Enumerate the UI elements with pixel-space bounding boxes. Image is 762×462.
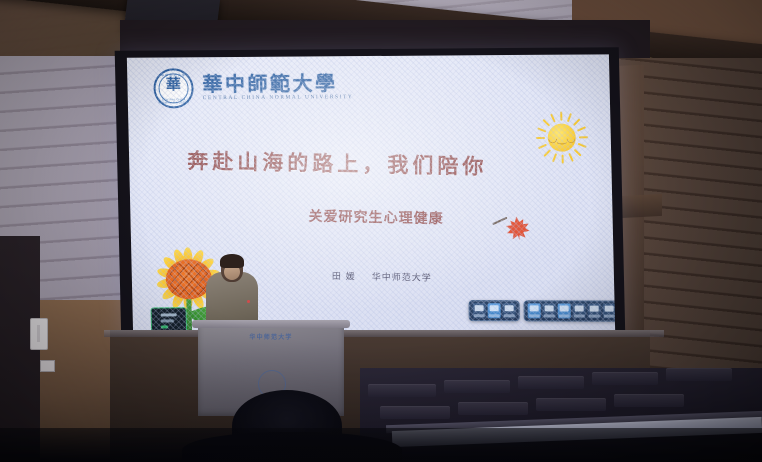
sunflower-seed-mesh	[170, 263, 209, 295]
annotate-button[interactable]	[503, 303, 516, 318]
presenter-name: 田 媛	[332, 271, 356, 283]
audio-toggle-button[interactable]	[488, 303, 501, 318]
slide-title: 奔赴山海的路上，我们陪你	[187, 148, 587, 182]
lecture-hall-scene: 华中师范大学 華 CENTRAL CHINA NORMAL UNIVERSITY…	[0, 0, 762, 462]
seal-glyph: 華	[155, 77, 191, 92]
wall-light-switch-icon[interactable]	[30, 318, 48, 350]
toolbar-group-share[interactable]	[524, 300, 616, 321]
thumb-bar	[161, 313, 177, 316]
sun-face: ◡‿◡	[547, 124, 576, 152]
chevron-right-icon	[590, 306, 599, 312]
presenter-line: 田 媛 华中师范大学	[332, 271, 432, 285]
podium-label: 华中师范大学	[198, 332, 344, 341]
video-toggle-button[interactable]	[473, 303, 486, 318]
maple-leaf-svg	[503, 214, 532, 243]
thumb-bar	[161, 319, 174, 322]
gear-icon	[605, 306, 614, 312]
stage-edge	[104, 330, 664, 337]
meeting-toolbar[interactable]	[469, 300, 616, 322]
presenter-hair	[220, 254, 244, 268]
university-brand: 华中师范大学 華 CENTRAL CHINA NORMAL UNIVERSITY…	[153, 67, 354, 108]
brand-names: 華中師範大學 CENTRAL CHINA NORMAL UNIVERSITY	[202, 73, 353, 102]
video-icon	[475, 305, 484, 311]
thumb-record-dot	[161, 325, 168, 328]
share-screen-button[interactable]	[558, 303, 571, 318]
pointer-icon	[530, 305, 539, 311]
podium-top	[192, 320, 350, 328]
toolbar-group-view[interactable]	[469, 300, 520, 321]
ccnu-seal-icon: 华中师范大学 華 CENTRAL CHINA NORMAL UNIVERSITY	[153, 68, 194, 108]
brand-name-cn: 華中師範大學	[202, 73, 353, 94]
settings-button[interactable]	[603, 304, 616, 319]
pen-button[interactable]	[543, 303, 556, 318]
annotate-icon	[505, 305, 514, 311]
lapel-microphone-icon	[247, 300, 250, 303]
maple-leaf-icon	[503, 214, 532, 243]
share-screen-icon	[560, 305, 569, 311]
slide-prev-button[interactable]	[573, 304, 586, 319]
slide-content: 华中师范大学 華 CENTRAL CHINA NORMAL UNIVERSITY…	[127, 54, 615, 333]
brand-name-en: CENTRAL CHINA NORMAL UNIVERSITY	[203, 94, 354, 102]
slide-next-button[interactable]	[588, 304, 601, 319]
projection-screen: 华中师范大学 華 CENTRAL CHINA NORMAL UNIVERSITY…	[127, 54, 615, 333]
presenter-affiliation: 华中师范大学	[372, 272, 432, 285]
seal-arc-bottom: CENTRAL CHINA NORMAL UNIVERSITY	[156, 98, 192, 104]
foreground-shadow	[0, 428, 762, 462]
pen-icon	[545, 305, 554, 311]
chevron-left-icon	[575, 306, 584, 312]
microphone-icon	[490, 305, 499, 311]
wall-outlet-icon[interactable]	[40, 360, 55, 372]
pointer-button[interactable]	[528, 303, 541, 318]
slide-subtitle: 关爱研究生心理健康	[309, 208, 609, 231]
